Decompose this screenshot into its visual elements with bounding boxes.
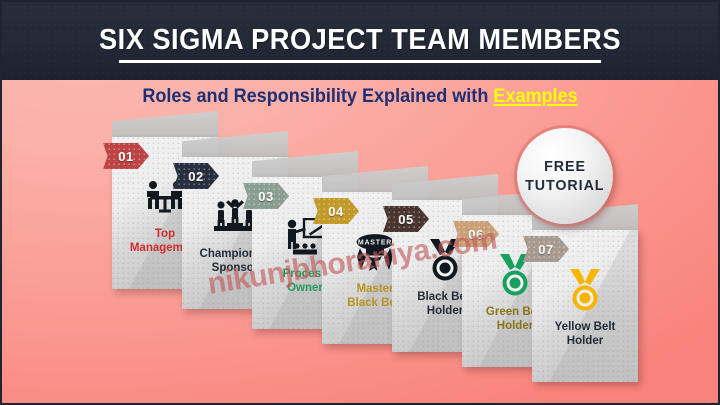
card-number: 04 [328, 204, 343, 219]
card-number: 02 [188, 169, 203, 184]
card-number: 07 [538, 242, 553, 257]
card-number: 05 [398, 212, 413, 227]
free-tutorial-line1: FREE [544, 157, 586, 176]
subtitle-text: Roles and Responsibility Explained with [142, 86, 493, 107]
card-number: 03 [258, 189, 273, 204]
header-band: SIX SIGMA PROJECT TEAM MEMBERS [0, 0, 720, 80]
infographic-canvas: SIX SIGMA PROJECT TEAM MEMBERS Roles and… [0, 0, 720, 405]
yellow-medal-icon [564, 268, 606, 312]
card-role-label-line1: Yellow Belt [535, 320, 635, 334]
title-underline [119, 60, 601, 63]
free-tutorial-line2: TUTORIAL [525, 176, 604, 195]
card-role-label: Yellow BeltHolder [532, 320, 638, 348]
card-icon-container [532, 266, 638, 314]
subtitle-highlight: Examples [493, 86, 577, 107]
card-number: 01 [118, 149, 133, 164]
team-role-card[interactable]: 07 Yellow BeltHolder [532, 204, 638, 382]
card-role-label-line2: Holder [535, 334, 635, 348]
subtitle: Roles and Responsibility Explained with … [18, 86, 702, 108]
free-tutorial-badge[interactable]: FREE TUTORIAL [517, 128, 613, 224]
page-title: SIX SIGMA PROJECT TEAM MEMBERS [22, 24, 699, 57]
